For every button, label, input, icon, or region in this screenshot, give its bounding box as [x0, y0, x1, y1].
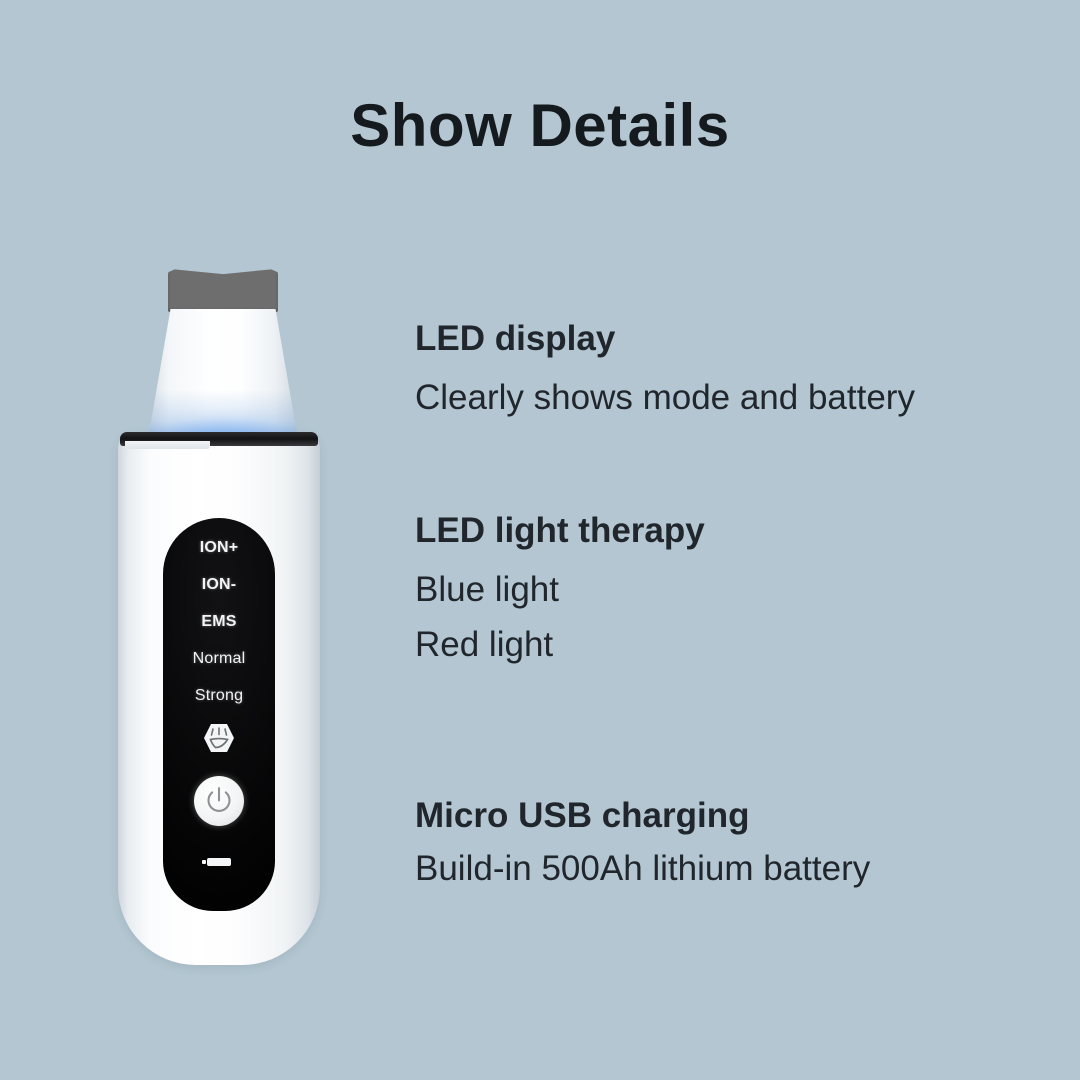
- feature-line: Build-in 500Ah lithium battery: [415, 842, 870, 897]
- mode-label-list: ION+ ION- EMS Normal Strong: [163, 540, 275, 725]
- led-control-panel[interactable]: ION+ ION- EMS Normal Strong: [163, 518, 275, 911]
- mode-label-ion-minus: ION-: [163, 577, 275, 593]
- battery-indicator-icon: [207, 858, 231, 866]
- mode-label-normal: Normal: [163, 651, 275, 667]
- feature-line: Red light: [415, 618, 705, 673]
- power-button[interactable]: [194, 776, 244, 826]
- feature-heading: LED light therapy: [415, 510, 705, 551]
- spatula-tip: [168, 268, 278, 312]
- led-light-icon[interactable]: [203, 723, 235, 753]
- handle-band-notch: [125, 441, 210, 449]
- feature-block-led-display: LED display Clearly shows mode and batte…: [415, 318, 915, 426]
- feature-line: Blue light: [415, 563, 705, 618]
- feature-block-led-light-therapy: LED light therapy Blue light Red light: [415, 510, 705, 672]
- mode-label-strong: Strong: [163, 688, 275, 704]
- device-illustration: ION+ ION- EMS Normal Strong: [100, 255, 350, 985]
- feature-description: Build-in 500Ah lithium battery: [415, 842, 870, 897]
- page-title: Show Details: [0, 96, 1080, 156]
- feature-description: Clearly shows mode and battery: [415, 371, 915, 426]
- feature-heading: Micro USB charging: [415, 795, 870, 836]
- feature-line: Clearly shows mode and battery: [415, 371, 915, 426]
- feature-description: Blue light Red light: [415, 563, 705, 672]
- feature-block-micro-usb-charging: Micro USB charging Build-in 500Ah lithiu…: [415, 795, 870, 897]
- product-detail-canvas: Show Details ION+ ION- EMS Normal Strong: [0, 0, 1080, 1080]
- mode-label-ion-plus: ION+: [163, 540, 275, 556]
- mode-label-ems: EMS: [163, 614, 275, 630]
- feature-heading: LED display: [415, 318, 915, 359]
